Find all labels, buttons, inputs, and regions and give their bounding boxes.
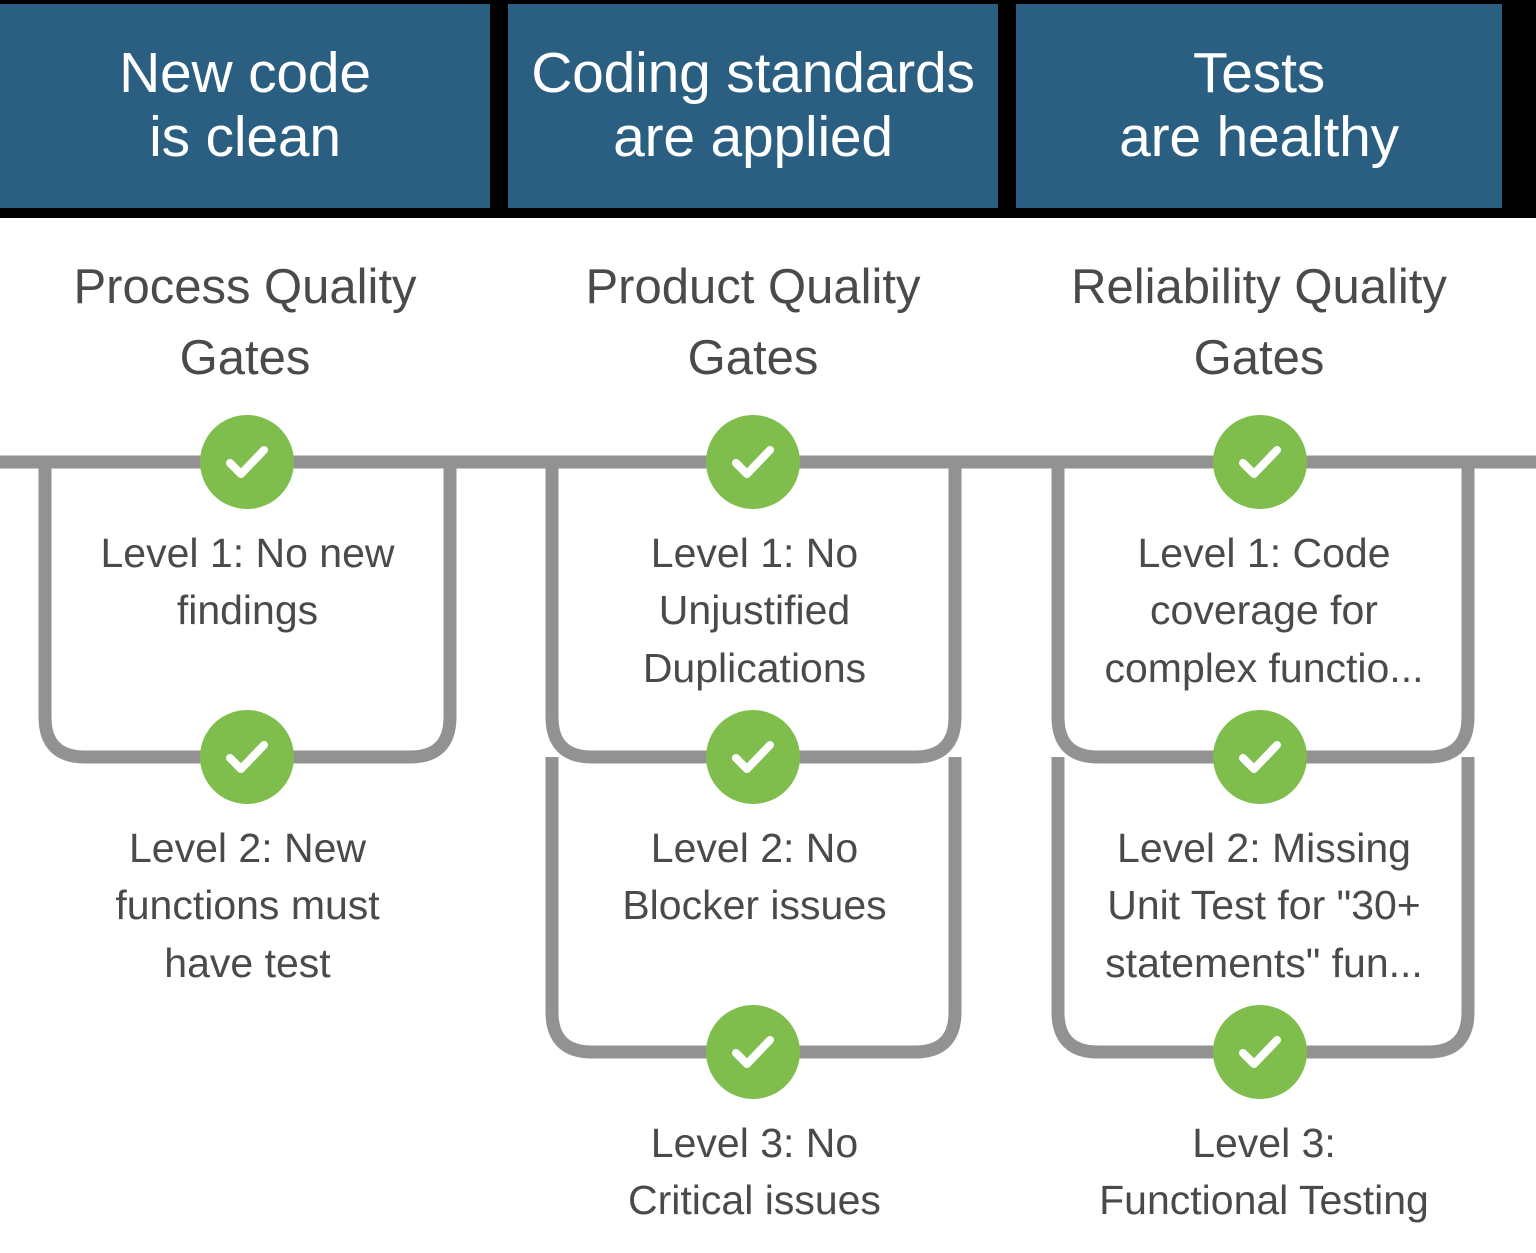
level-label-col3-level1: Level 1: Code coverage for complex funct… (1068, 525, 1460, 697)
level-label-col2-level3: Level 3: No Critical issues (562, 1115, 947, 1230)
check-circle-icon-col3-level2 (1213, 710, 1307, 804)
header-box-label: Coding standards are applied (531, 42, 975, 170)
check-circle-icon-col2-level1 (706, 415, 800, 509)
level-label-col3-level3: Level 3: Functional Testing (1068, 1115, 1460, 1230)
check-circle-icon-col3-level1 (1213, 415, 1307, 509)
header-band: New code is clean Coding standards are a… (0, 0, 1536, 218)
column-title-product-quality-gates: Product Quality Gates (508, 252, 998, 393)
level-label-col1-level2: Level 2: New functions must have test (55, 820, 440, 992)
header-box-label: Tests are healthy (1119, 42, 1399, 170)
header-box-new-code-is-clean: New code is clean (0, 4, 490, 208)
level-label-col1-level1: Level 1: No new findings (55, 525, 440, 640)
header-box-coding-standards-are-applied: Coding standards are applied (508, 4, 998, 208)
column-title-reliability-quality-gates: Reliability Quality Gates (1016, 252, 1502, 393)
level-label-col2-level1: Level 1: No Unjustified Duplications (562, 525, 947, 697)
check-circle-icon-col3-level3 (1213, 1005, 1307, 1099)
diagram-canvas: New code is clean Coding standards are a… (0, 0, 1536, 1253)
check-circle-icon-col2-level3 (706, 1005, 800, 1099)
column-title-process-quality-gates: Process Quality Gates (0, 252, 490, 393)
header-box-label: New code is clean (119, 42, 371, 170)
check-circle-icon-col2-level2 (706, 710, 800, 804)
level-label-col2-level2: Level 2: No Blocker issues (562, 820, 947, 935)
check-circle-icon-col1-level1 (200, 415, 294, 509)
level-label-col3-level2: Level 2: Missing Unit Test for "30+ stat… (1068, 820, 1460, 992)
check-circle-icon-col1-level2 (200, 710, 294, 804)
header-box-tests-are-healthy: Tests are healthy (1016, 4, 1502, 208)
